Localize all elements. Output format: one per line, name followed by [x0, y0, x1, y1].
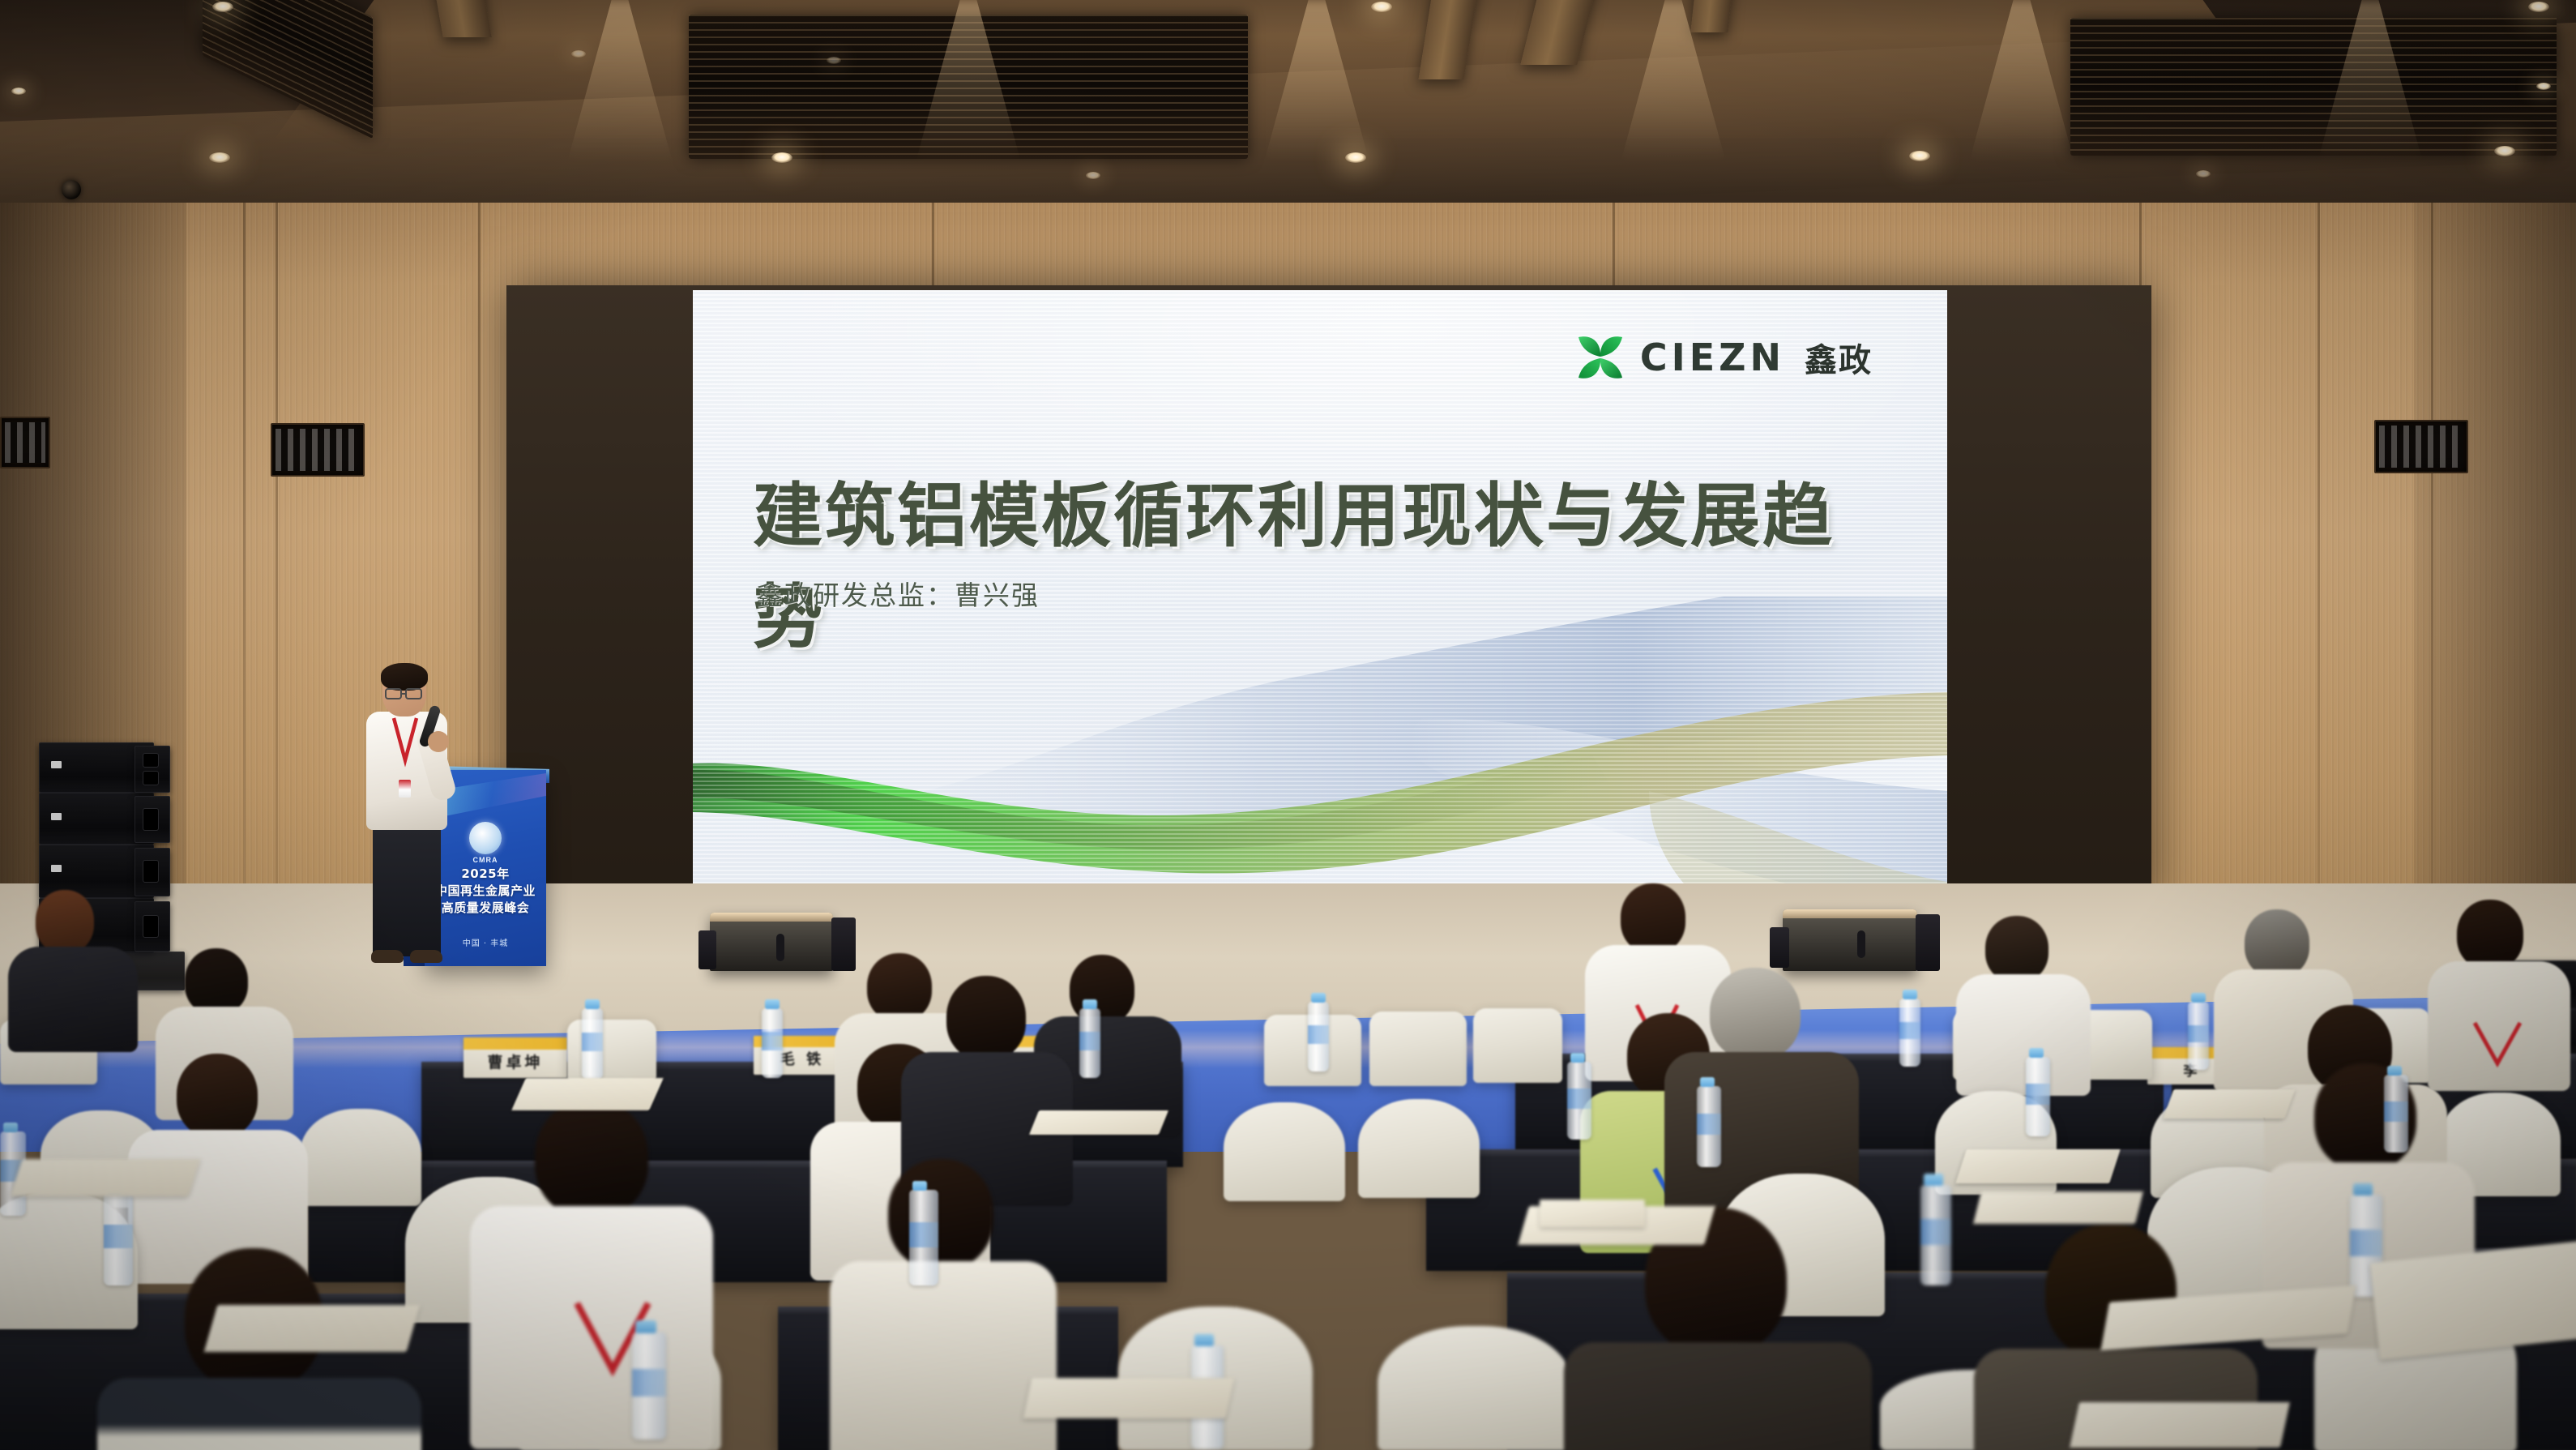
name-card-text: 曹卓坤	[464, 1050, 567, 1072]
ciezn-pinwheel-logo-icon	[1575, 332, 1625, 383]
notepad	[204, 1305, 421, 1352]
notepad	[1023, 1378, 1235, 1418]
notepad	[2070, 1402, 2290, 1448]
podium-line-2: 中国再生金属产业	[425, 883, 546, 900]
cmra-logo-icon	[469, 822, 502, 854]
ceiling-downlight	[1086, 172, 1100, 179]
water-bottle	[2188, 1002, 2209, 1070]
presentation-slide: CIEZN 鑫政 建筑铝模板循环利用现状与发展趋势 鑫政研发总监：曹兴强	[693, 290, 1947, 905]
presenter-hand	[428, 731, 449, 752]
ceiling-downlight	[1345, 152, 1366, 163]
water-bottle	[104, 1193, 133, 1285]
ceiling-downlight	[2536, 83, 2551, 90]
water-bottle	[2384, 1075, 2408, 1153]
logo-wordmark: CIEZN	[1640, 336, 1785, 379]
audience-chair	[1224, 1102, 1345, 1201]
ceiling-downlight	[1909, 151, 1930, 161]
podium-line-3: 高质量发展峰会	[425, 900, 546, 917]
notepad	[1973, 1191, 2143, 1224]
water-bottle	[1308, 1002, 1329, 1071]
presenter-shoe	[410, 950, 442, 963]
slide-subtitle: 鑫政研发总监：曹兴强	[756, 574, 1040, 613]
stage-monitor-right	[1783, 909, 1917, 971]
ceiling-downlight	[209, 152, 230, 163]
led-video-wall: CIEZN 鑫政 建筑铝模板循环利用现状与发展趋势 鑫政研发总监：曹兴强	[506, 285, 2151, 909]
ceiling-beam	[1690, 0, 1733, 32]
logo-chinese-name: 鑫政	[1805, 334, 1873, 381]
audience-chair	[567, 1020, 656, 1081]
water-bottle	[582, 1008, 603, 1080]
audience-chair	[1473, 1008, 1562, 1083]
conference-hall-photo: CIEZN 鑫政 建筑铝模板循环利用现状与发展趋势 鑫政研发总监：曹兴强	[0, 0, 2576, 1450]
name-card: 曹卓坤	[464, 1037, 567, 1078]
water-bottle	[1079, 1008, 1100, 1078]
podium-event-title: 2025年 中国再生金属产业 高质量发展峰会	[425, 866, 546, 917]
ceiling-downlight	[771, 152, 792, 163]
ceiling-downlight	[571, 50, 586, 58]
wall-vent-panel	[0, 417, 50, 468]
ceiling-downlight	[2528, 2, 2549, 12]
security-camera	[62, 180, 81, 199]
ceiling-downlight	[11, 88, 26, 95]
wall-vent-panel	[271, 423, 365, 477]
notepad	[2163, 1089, 2295, 1119]
water-bottle	[632, 1332, 666, 1439]
presenter-shoe	[371, 950, 404, 963]
ceiling-downlight	[212, 2, 233, 12]
audience-chair	[1369, 1012, 1467, 1086]
ceiling-downlight	[2196, 170, 2211, 178]
water-bottle	[1920, 1185, 1951, 1285]
ceiling-downlight	[2494, 146, 2515, 156]
notepad	[1540, 1200, 1645, 1227]
water-bottle	[2026, 1057, 2050, 1136]
presenter-glasses-icon	[381, 686, 429, 702]
slide-title: 建筑铝模板循环利用现状与发展趋势	[753, 459, 1903, 661]
ceiling-downlight	[1371, 2, 1392, 12]
stage-monitor-left	[710, 913, 833, 971]
water-bottle	[1567, 1062, 1591, 1140]
presenter-lanyard	[384, 716, 426, 789]
podium-location-text: 中国 · 丰城	[425, 936, 546, 948]
wall-vent-panel	[2374, 420, 2468, 473]
cmra-logo-text: CMRA	[425, 856, 546, 864]
water-bottle	[762, 1008, 783, 1078]
water-bottle	[1899, 999, 1920, 1067]
ceiling-vent-panel	[2070, 18, 2557, 156]
audience-chair	[1378, 1326, 1572, 1450]
water-bottle	[909, 1190, 938, 1285]
notepad	[511, 1078, 664, 1110]
notepad	[11, 1159, 201, 1196]
water-bottle	[1697, 1086, 1721, 1167]
notepad	[1955, 1149, 2121, 1183]
notepad	[1029, 1110, 1168, 1135]
presenter-badge	[399, 780, 411, 798]
audience-chair	[300, 1109, 421, 1206]
ceiling-downlight	[827, 57, 841, 64]
presenter-legs	[373, 823, 441, 956]
ciezn-logo: CIEZN 鑫政	[1575, 332, 1873, 383]
podium-line-1: 2025年	[425, 866, 546, 883]
audience-chair	[1358, 1099, 1480, 1198]
